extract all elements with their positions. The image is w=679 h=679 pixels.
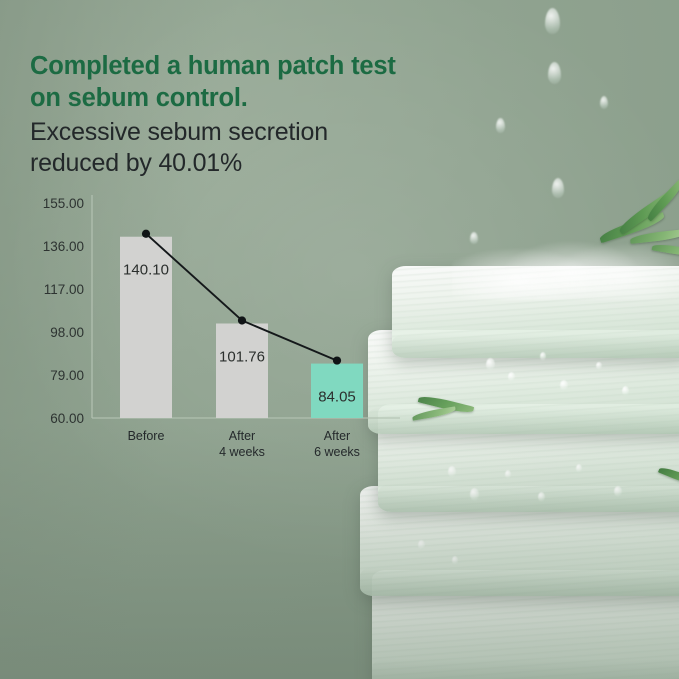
y-axis-tick-label: 155.00: [43, 196, 84, 211]
y-axis-tick-label: 117.00: [44, 282, 84, 297]
y-axis-tick-label: 98.00: [50, 325, 84, 340]
title-line-2: on sebum control.: [30, 84, 248, 112]
chart-bar[interactable]: [216, 323, 268, 418]
headline-block: Completed a human patch test on sebum co…: [30, 50, 450, 178]
x-axis-tick-label: Before: [128, 429, 165, 443]
y-axis-tick-label: 60.00: [50, 411, 84, 426]
title-line-1: Completed a human patch test: [30, 52, 396, 80]
chart-svg: 155.00136.00117.0098.0079.0060.00 140.10…: [0, 185, 420, 475]
x-axis-tick-label: After6 weeks: [314, 429, 360, 459]
y-axis-tick-label: 79.00: [50, 368, 84, 383]
trend-marker[interactable]: [142, 230, 150, 238]
poster-canvas: Completed a human patch test on sebum co…: [0, 0, 679, 679]
trend-marker[interactable]: [238, 316, 246, 324]
page-title: Completed a human patch test on sebum co…: [30, 50, 450, 114]
subtitle-line-1: Excessive sebum secretion: [30, 118, 328, 146]
bar-value-label: 101.76: [219, 348, 265, 365]
x-axis-tick-label: After4 weeks: [219, 429, 265, 459]
bar-value-label: 84.05: [318, 389, 356, 406]
sebum-reduction-chart: 155.00136.00117.0098.0079.0060.00 140.10…: [0, 185, 420, 475]
page-subtitle: Excessive sebum secretion reduced by 40.…: [30, 117, 450, 178]
y-axis-tick-labels: 155.00136.00117.0098.0079.0060.00: [43, 196, 84, 426]
y-axis-tick-label: 136.00: [43, 239, 84, 254]
trend-marker[interactable]: [333, 356, 341, 364]
x-axis-tick-labels: BeforeAfter4 weeksAfter6 weeks: [128, 429, 360, 459]
subtitle-line-2: reduced by 40.01%: [30, 149, 242, 177]
bar-value-label: 140.10: [123, 262, 169, 279]
